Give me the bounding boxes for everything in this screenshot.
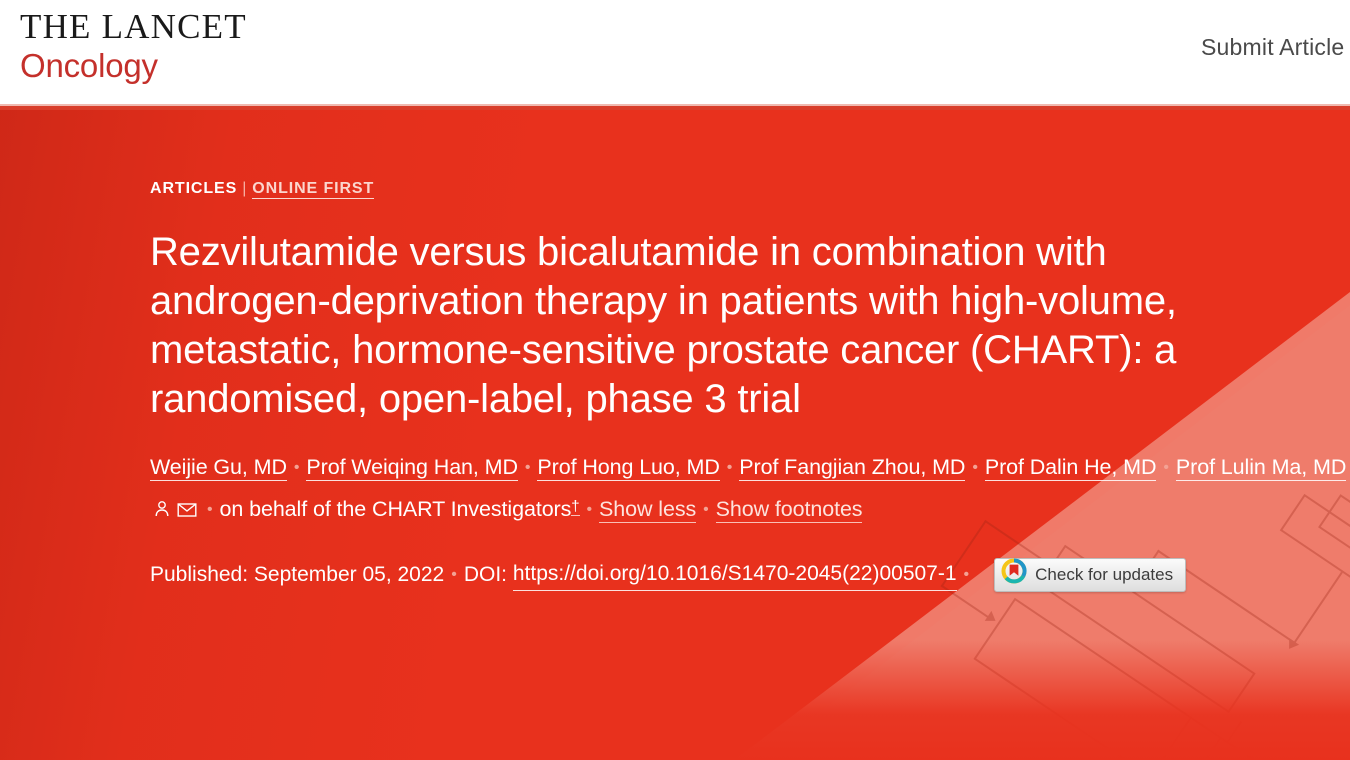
meta-separator: • — [964, 560, 970, 590]
brand-oncology: Oncology — [20, 47, 247, 85]
on-behalf-of-text: on behalf of the CHART Investigators — [220, 497, 572, 521]
brand-the-lancet: THE LANCET — [20, 8, 247, 46]
author-separator: • — [1163, 459, 1169, 476]
meta-separator: • — [451, 560, 457, 590]
envelope-icon[interactable] — [176, 493, 198, 532]
author-link[interactable]: Prof Lulin Ma, MD — [1176, 455, 1346, 481]
breadcrumb: ARTICLES|ONLINE FIRST — [150, 180, 1260, 198]
author-separator: • — [294, 459, 300, 476]
kicker-status[interactable]: ONLINE FIRST — [252, 180, 374, 199]
kicker-section[interactable]: ARTICLES — [150, 180, 237, 197]
hero-wedge-fade — [590, 640, 1350, 760]
published-date: September 05, 2022 — [254, 560, 444, 590]
author-link[interactable]: Weijie Gu, MD — [150, 455, 287, 481]
author-separator: • — [703, 501, 709, 518]
show-footnotes-button[interactable]: Show footnotes — [716, 497, 863, 523]
author-separator: • — [587, 501, 593, 518]
kicker-separator: | — [242, 180, 247, 197]
author-link[interactable]: Prof Dalin He, MD — [985, 455, 1157, 481]
crossmark-icon — [1001, 558, 1027, 593]
doi-label: DOI: — [464, 560, 507, 590]
person-icon[interactable] — [152, 493, 172, 532]
author-list: Weijie Gu, MD•Prof Weiqing Han, MD•Prof … — [150, 448, 1205, 532]
consort-connector — [1293, 572, 1343, 644]
submit-article-link[interactable]: Submit Article — [1201, 34, 1344, 61]
crossmark-check-for-updates-button[interactable]: Check for updates — [994, 558, 1186, 592]
published-label: Published: — [150, 560, 248, 590]
page-title: Rezvilutamide versus bicalutamide in com… — [150, 228, 1245, 424]
author-separator: • — [207, 501, 213, 518]
doi-link[interactable]: https://doi.org/10.1016/S1470-2045(22)00… — [513, 559, 957, 591]
site-header: THE LANCET Oncology Submit Article — [0, 0, 1350, 110]
author-separator: • — [972, 459, 978, 476]
publication-metadata: Published: September 05, 2022•DOI: https… — [150, 558, 1260, 592]
show-less-button[interactable]: Show less — [599, 497, 696, 523]
article-header-content: ARTICLES|ONLINE FIRST Rezvilutamide vers… — [150, 180, 1260, 592]
crossmark-label: Check for updates — [1035, 560, 1173, 590]
footnote-marker[interactable]: † — [571, 498, 579, 516]
author-link[interactable]: Prof Hong Luo, MD — [537, 455, 719, 481]
site-logo[interactable]: THE LANCET Oncology — [20, 8, 247, 85]
author-separator: • — [727, 459, 733, 476]
author-separator: • — [525, 459, 531, 476]
author-link[interactable]: Prof Fangjian Zhou, MD — [739, 455, 965, 481]
article-hero: ARTICLES|ONLINE FIRST Rezvilutamide vers… — [0, 110, 1350, 760]
author-link[interactable]: Prof Weiqing Han, MD — [306, 455, 518, 481]
